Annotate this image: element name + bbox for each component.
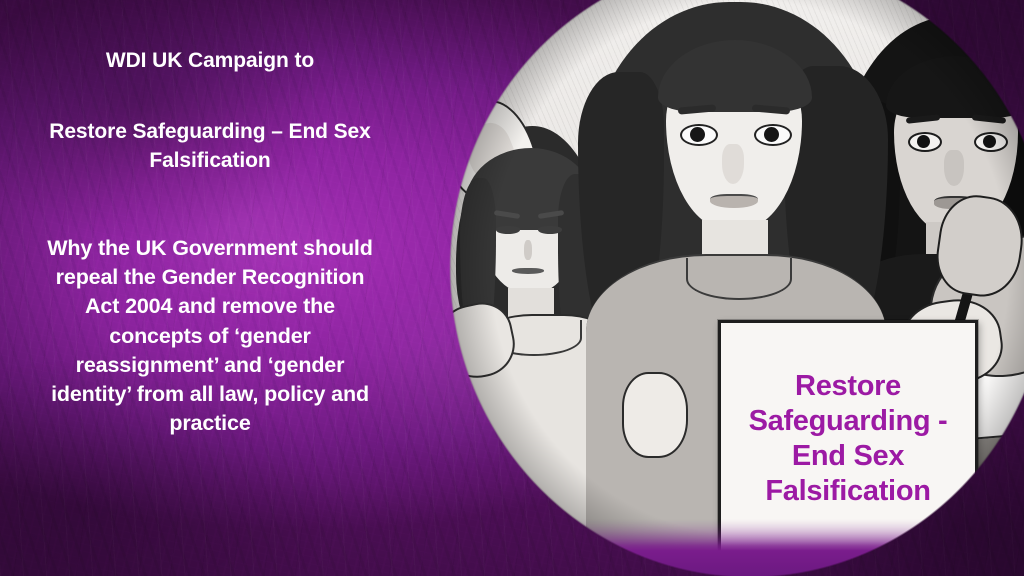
placard-woman-nose (722, 144, 744, 184)
placard-woman-pupil-right (764, 127, 779, 142)
campaign-body-text: Why the UK Government should repeal the … (38, 234, 382, 439)
body-block: Why the UK Government should repeal the … (10, 234, 410, 439)
chin-woman-nose (944, 150, 964, 186)
sad-girl-eye-left (496, 226, 520, 234)
sad-girl-nose (524, 240, 532, 260)
sad-girl-eye-right (538, 226, 562, 234)
campaign-heading-line-2: Restore Safeguarding – End Sex Falsifica… (30, 118, 390, 176)
campaign-slide: WDI UK Campaign to Restore Safeguarding … (0, 0, 1024, 576)
placard-woman-collar (686, 258, 792, 300)
chin-woman-pupil-left (917, 135, 930, 148)
illustration-bottom-cutout (430, 506, 1024, 576)
heading-block: WDI UK Campaign to Restore Safeguarding … (10, 48, 410, 176)
placard-woman-pupil-left (690, 127, 705, 142)
placard-woman-mouth (710, 194, 758, 208)
illustration-inner: Restore Safeguarding - End Sex Falsifica… (430, 0, 1024, 576)
placard-woman-hand-left (622, 372, 688, 458)
chin-woman-pupil-right (983, 135, 996, 148)
campaign-heading-line-1: WDI UK Campaign to (28, 48, 392, 74)
illustration-oval: Restore Safeguarding - End Sex Falsifica… (430, 0, 1024, 576)
placard-text: Restore Safeguarding - End Sex Falsifica… (721, 369, 975, 508)
figure-woman-with-placard: Restore Safeguarding - End Sex Falsifica… (570, 2, 900, 576)
text-column: WDI UK Campaign to Restore Safeguarding … (10, 0, 410, 576)
sad-girl-mouth (512, 268, 544, 274)
